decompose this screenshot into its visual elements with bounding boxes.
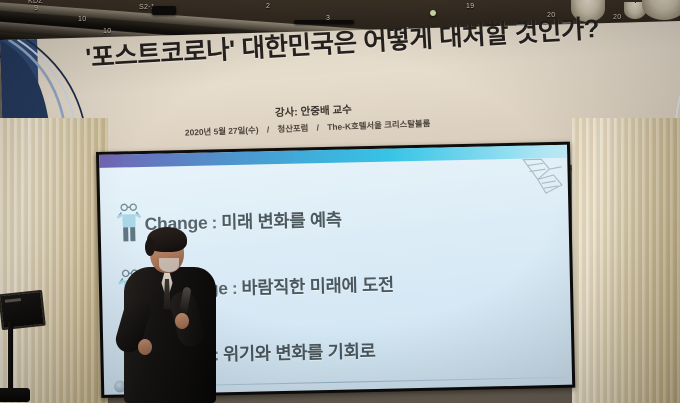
speaker-beard [159, 258, 179, 272]
ceiling-light-dot [430, 10, 436, 16]
speaker-person [118, 225, 222, 403]
bullet-ko-label: 바람직한 미래에 도전 [241, 274, 394, 297]
curtain-right [572, 118, 680, 403]
beam-number: 10 [103, 28, 111, 35]
beam-number: 9 [34, 5, 38, 12]
bullet-ko-label: 미래 변화를 예측 [221, 209, 342, 232]
speaker-hair [147, 227, 187, 252]
beam-number: 20 [613, 14, 621, 21]
beam-number: 2 [266, 3, 270, 10]
beam-number: 19 [466, 3, 474, 10]
ceiling-fixture [294, 20, 354, 24]
presentation-photo: 9 10 10 11 11 2 3 3 4 4 5 20 20 21 21 22… [0, 0, 680, 403]
bullet-ko-label: 위기와 변화를 기회로 [223, 340, 376, 363]
beam-number: 10 [78, 16, 86, 23]
beam-number: KDZ [28, 0, 43, 5]
monitor-base [0, 388, 30, 402]
speaker-hand-left [138, 339, 152, 355]
bullet-separator: : [232, 277, 238, 297]
beam-number: 20 [547, 12, 555, 19]
speaker-hand-right [175, 313, 189, 329]
monitor-pole [8, 322, 13, 395]
pendant-lamp [571, 0, 605, 22]
pendant-lamp [642, 0, 680, 20]
ceiling-fixture [152, 6, 176, 15]
av-monitor-stand [0, 292, 44, 403]
confidence-monitor [0, 290, 46, 330]
